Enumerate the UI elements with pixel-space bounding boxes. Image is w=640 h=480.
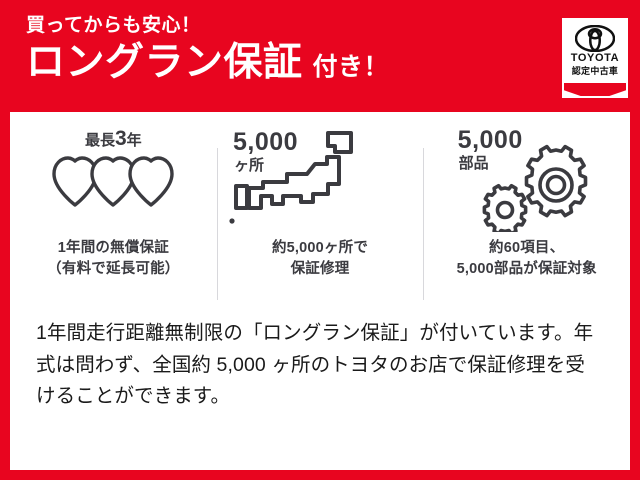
toyota-certified-logo: TOYOTA 認定中古車 [562,18,628,98]
feature-caption-warranty-term: 1年間の無償保証 （有料で延長可能） [47,238,179,280]
body-copy: 1年間走行距離無制限の「ロングラン保証」が付いています。年式は問わず、全国約 5… [10,308,630,413]
covered-parts-number: 5,000 [458,128,523,153]
covered-parts-unit: 部品 [459,156,489,171]
warranty-term-prefix: 最長 [85,132,115,149]
toyota-logo-inner: TOYOTA 認定中古車 [564,25,626,98]
feature-art-covered-parts: 5,000 部品 [432,126,622,234]
feature-panel-warranty-term: 最長3年 1年間の無償保証 （有料で延長可能） [10,126,217,308]
header-headline: ロングラン保証 付き！ [26,43,389,84]
warranty-term-number: 3 [115,127,127,150]
content-card: 最長3年 1年間の無償保証 （有料で延長可能） [10,112,630,470]
feature-panel-service-locations: 5,000 ヶ所 約5,000ヶ所で 保証修理 [217,126,424,308]
headline-suffix: 付き！ [313,47,390,83]
feature-panels: 最長3年 1年間の無償保証 （有料で延長可能） [10,112,630,308]
caption-line-2: （有料で延長可能） [47,259,179,280]
caption-line-2: 5,000部品が保証対象 [457,259,597,280]
headline-main: ロングラン保証 [26,43,303,84]
body-paragraph: 1年間走行距離無制限の「ロングラン保証」が付いています。年式は問わず、全国約 5… [36,318,604,413]
warranty-term-label: 最長3年 [85,128,142,149]
service-locations-number: 5,000 [233,130,298,155]
logo-chevron-shape [564,83,626,98]
header-kicker: 買ってからも安心！ [26,16,389,37]
header-text-block: 買ってからも安心！ ロングラン保証 付き！ [26,16,389,84]
feature-art-warranty-term: 最長3年 [18,126,208,234]
caption-line-1: 1年間の無償保証 [47,238,179,259]
caption-line-1: 約5,000ヶ所で [272,238,368,259]
toyota-wordmark: TOYOTA [564,53,626,64]
three-hearts-icon [51,152,175,210]
toyota-subtitle: 認定中古車 [564,67,626,76]
caption-line-1: 約60項目、 [457,238,597,259]
feature-caption-covered-parts: 約60項目、 5,000部品が保証対象 [457,238,597,280]
caption-line-2: 保証修理 [272,259,368,280]
feature-caption-service-locations: 約5,000ヶ所で 保証修理 [272,238,368,280]
header-band: 買ってからも安心！ ロングラン保証 付き！ TOYOTA 認定中古車 [0,0,640,112]
warranty-term-suffix: 年 [127,132,142,149]
service-locations-unit: ヶ所 [234,158,264,173]
toyota-emblem-icon [575,25,615,52]
advertisement-banner: 買ってからも安心！ ロングラン保証 付き！ TOYOTA 認定中古車 [0,0,640,480]
feature-panel-covered-parts: 5,000 部品 約60項目、 5,000部品が保証対象 [423,126,630,308]
feature-art-service-locations: 5,000 ヶ所 [225,126,415,234]
